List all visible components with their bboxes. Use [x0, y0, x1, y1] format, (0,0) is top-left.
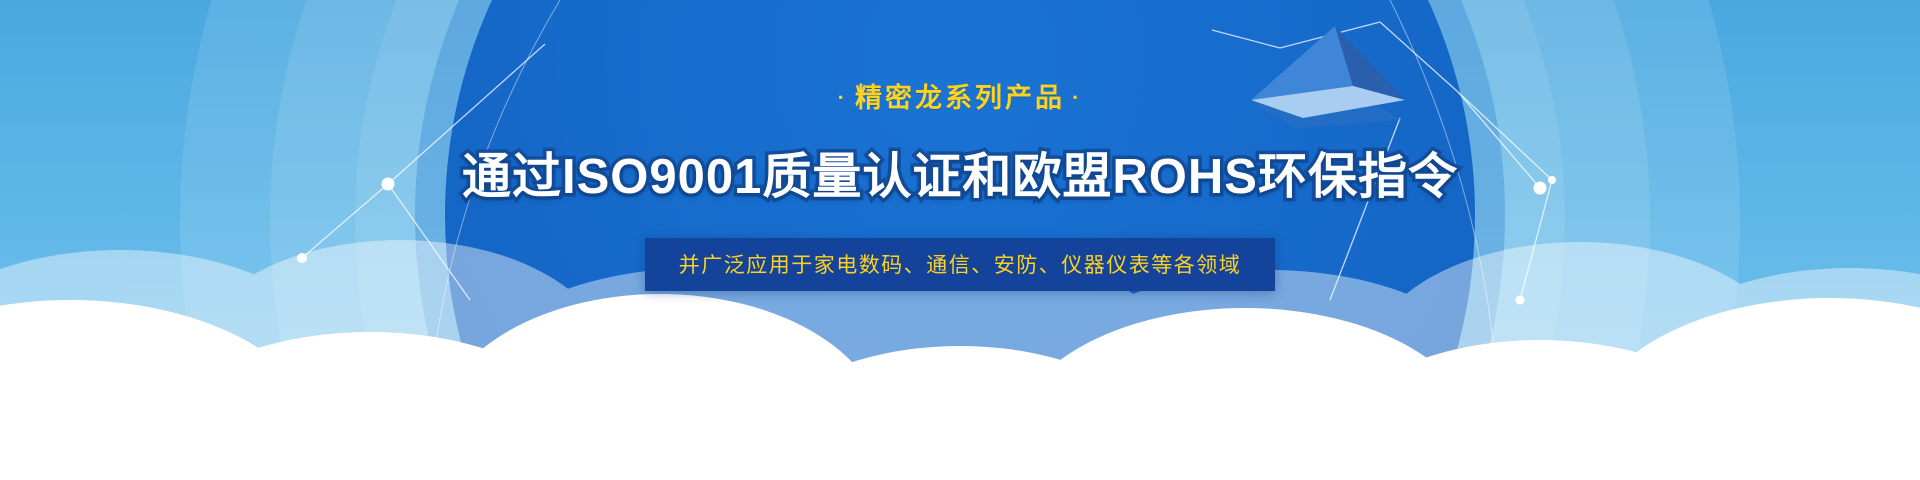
- eyebrow-dot-left: ·: [831, 85, 855, 110]
- subtitle-bar: 并广泛应用于家电数码、通信、安防、仪器仪表等各领域: [645, 238, 1276, 291]
- eyebrow-dot-right: ·: [1065, 85, 1089, 110]
- promo-banner: ·精密龙系列产品· 通过ISO9001质量认证和欧盟ROHS环保指令 并广泛应用…: [0, 0, 1920, 480]
- eyebrow-text: ·精密龙系列产品·: [0, 76, 1920, 115]
- banner-content: ·精密龙系列产品· 通过ISO9001质量认证和欧盟ROHS环保指令 并广泛应用…: [0, 0, 1920, 291]
- headline-text: 通过ISO9001质量认证和欧盟ROHS环保指令: [0, 137, 1920, 208]
- eyebrow-label: 精密龙系列产品: [855, 83, 1065, 113]
- subtitle-text: 并广泛应用于家电数码、通信、安防、仪器仪表等各领域: [679, 254, 1242, 277]
